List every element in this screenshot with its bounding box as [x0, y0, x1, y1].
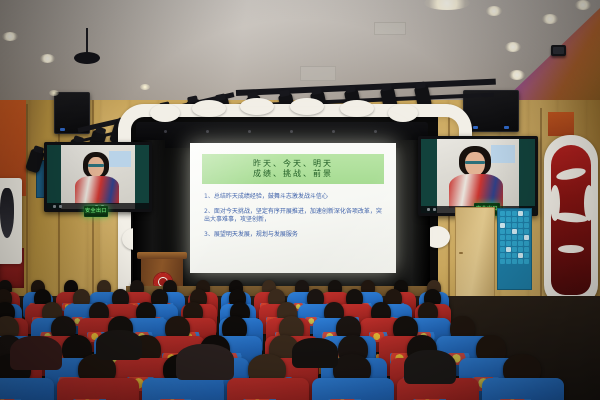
auditorium-seat [57, 378, 139, 400]
seat-number-cell [524, 211, 529, 216]
downlight [40, 54, 55, 63]
seat-number-cell [512, 241, 517, 246]
slide-bullet: 2、面对今天挑战，坚定有序开展推进，加速创新深化各项改革，突出大事难事，攻坚创新… [204, 208, 386, 224]
seat-number-cell [506, 223, 511, 228]
seat-number-cell [506, 217, 511, 222]
seat-number-cell [512, 223, 517, 228]
slide-title-band: 昨天、今天、明天 成绩、挑战、前景 [202, 154, 384, 184]
seat-number-cell [524, 223, 529, 228]
seat-number-cell [518, 247, 523, 252]
seat-number-cell [512, 229, 517, 234]
seat-number-cell [512, 259, 517, 264]
seat-number-cell [518, 211, 523, 216]
seat-number-cell [512, 247, 517, 252]
auditorium-seat [142, 378, 224, 400]
seat-number-cell [524, 235, 529, 240]
seat-number-cell [506, 259, 511, 264]
projection-screen: 昨天、今天、明天 成绩、挑战、前景 1、总结昨天成绩经验，鼓舞斗志激发战斗信心 … [190, 143, 396, 273]
feed-window [491, 145, 515, 163]
speaker-glasses [465, 161, 485, 164]
seat-number-cell [500, 259, 505, 264]
seat-number-cell [524, 259, 529, 264]
seat-number-cell [518, 241, 523, 246]
ceiling-vent [374, 22, 406, 35]
exit-sign-label: 安全出口 [85, 209, 107, 214]
seat-number-cell [518, 217, 523, 222]
seat-number-cell [500, 247, 505, 252]
arch-lobe [192, 100, 226, 117]
exit-sign-left: 安全出口 [84, 206, 108, 217]
video-feed [421, 139, 535, 213]
truss-rod [86, 28, 88, 54]
slide-title-line2: 成绩、挑战、前景 [253, 169, 333, 179]
light-glow [140, 84, 150, 90]
mask-cheek [550, 185, 560, 221]
audience-member-shoulders [404, 350, 456, 384]
seat-number-cell [524, 247, 529, 252]
downlight [486, 6, 502, 16]
seat-number-cell [506, 211, 511, 216]
seat-number-cell [518, 253, 523, 258]
opera-mask-panel [544, 135, 598, 305]
calligraphy-poster [0, 178, 22, 264]
wall-seam [26, 104, 28, 304]
wall-accent-strip [548, 112, 574, 136]
door-handle-icon[interactable] [459, 252, 463, 254]
video-feed [47, 145, 149, 209]
auditorium-photo: 昨天、今天、明天 成绩、挑战、前景 1、总结昨天成绩经验，鼓舞斗志激发战斗信心 … [0, 0, 600, 400]
arch-lobe [388, 104, 418, 122]
left-display [44, 142, 152, 212]
seat-number-cell [518, 259, 523, 264]
seat-number-cell [500, 235, 505, 240]
audience-member-shoulders [176, 344, 234, 380]
speaker-torso [75, 176, 119, 204]
seat-number-cell [500, 229, 505, 234]
speaker-glasses [88, 164, 104, 167]
seat-number-cell [518, 223, 523, 228]
speaker-face [465, 152, 485, 176]
downlight [509, 70, 525, 80]
seating-number-board [497, 208, 532, 290]
mask-cheek [584, 185, 594, 221]
arch-lobe [290, 98, 324, 115]
audience-member-shoulders [96, 330, 142, 360]
seat-number-cell [500, 241, 505, 246]
audience-member-shoulders [10, 336, 62, 370]
seat-number-cell [512, 253, 517, 258]
feed-background [437, 139, 519, 213]
truss-clamp [74, 52, 100, 64]
feed-window [109, 151, 131, 167]
downlight [505, 42, 521, 52]
seat-number-cell [500, 223, 505, 228]
slide-body: 1、总结昨天成绩经验，鼓舞斗志激发战斗信心 2、面对今天挑战，坚定有序开展推进，… [204, 193, 386, 246]
slide-bullet: 3、展望明天发展，规划与发展服务 [204, 231, 386, 239]
seat-number-cell [524, 229, 529, 234]
auditorium-seat [227, 378, 309, 400]
slide-bullet: 1、总结昨天成绩经验，鼓舞斗志激发战斗信心 [204, 193, 386, 201]
seat-number-cell [524, 241, 529, 246]
arch-lobe [150, 104, 180, 122]
seat-number-cell [506, 229, 511, 234]
seat-number-cell [500, 253, 505, 258]
mask-brow [558, 245, 584, 253]
arch-lobe [240, 98, 274, 115]
seat-number-cell [512, 217, 517, 222]
seat-number-cell [506, 247, 511, 252]
audience-member-shoulders [292, 338, 338, 368]
seat-number-cell [518, 235, 523, 240]
downlight [542, 14, 558, 24]
seat-number-cell [500, 217, 505, 222]
ceiling-vent [300, 66, 336, 81]
seat-number-cell [500, 211, 505, 216]
seat-number-cell [506, 253, 511, 258]
side-door[interactable] [455, 207, 495, 299]
auditorium-seat [312, 378, 394, 400]
seat-number-cell [512, 235, 517, 240]
seat-number-cell [506, 241, 511, 246]
auditorium-seat [0, 378, 54, 400]
seat-number-cell [524, 253, 529, 258]
slide-title-line1: 昨天、今天、明天 [253, 159, 333, 169]
auditorium-seat [482, 378, 564, 400]
seat-number-cell [512, 211, 517, 216]
light-glow [49, 90, 59, 96]
wall-seam [540, 108, 542, 298]
feed-background [61, 145, 134, 209]
lectern-top [137, 252, 187, 259]
seat-number-cell [506, 235, 511, 240]
seat-number-cell [518, 229, 523, 234]
floodlight-icon [551, 45, 566, 56]
downlight [2, 32, 18, 41]
seat-number-cell [524, 217, 529, 222]
downlight [575, 0, 591, 10]
arch-lobe [340, 100, 374, 117]
